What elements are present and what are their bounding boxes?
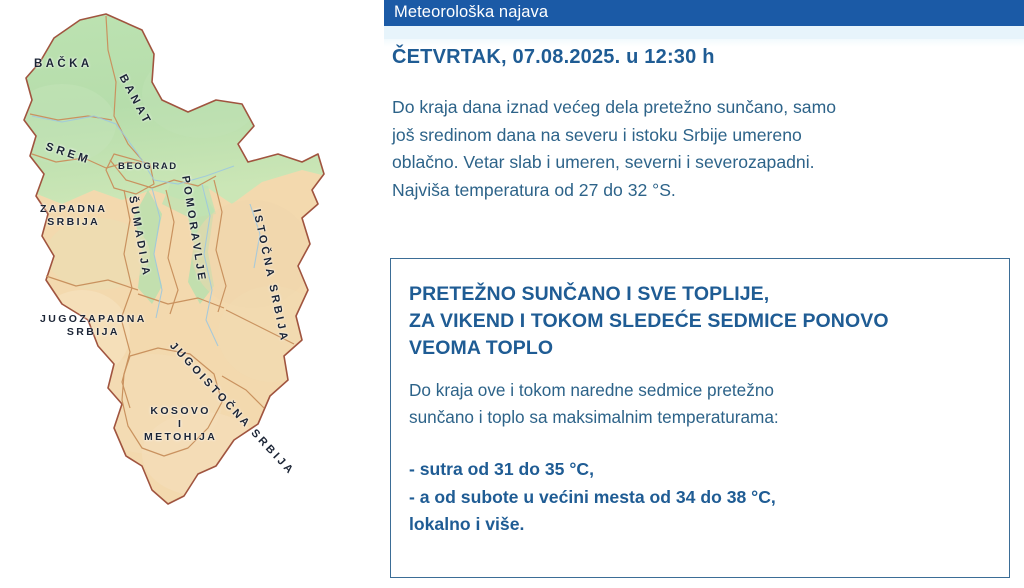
map-landmass bbox=[2, 4, 382, 584]
titlebar-label: Meteorološka najava bbox=[394, 3, 548, 22]
bulletin-panel: Meteorološka najava ČETVRTAK, 07.08.2025… bbox=[384, 0, 1024, 588]
weather-alert-box: PRETEŽNO SUNČANO I SVE TOPLIJE, ZA VIKEN… bbox=[390, 258, 1010, 578]
titlebar-underlay bbox=[384, 26, 1024, 39]
bulletin-page: BAČKA BANAT SREM BEOGRAD ZAPADNA SRBIJA … bbox=[0, 0, 1024, 588]
forecast-intro-paragraph: Do kraja dana iznad većeg dela pretežno … bbox=[392, 94, 996, 204]
forecast-datetime: ČETVRTAK, 07.08.2025. u 12:30 h bbox=[392, 46, 1012, 69]
alert-temperature-list: - sutra od 31 do 35 °C, - a od subote u … bbox=[409, 456, 995, 539]
serbia-map: BAČKA BANAT SREM BEOGRAD ZAPADNA SRBIJA … bbox=[0, 0, 384, 588]
alert-body-text: Do kraja ove i tokom naredne sedmice pre… bbox=[409, 377, 981, 431]
serbia-map-graphic bbox=[2, 4, 382, 584]
meteorological-forecast-titlebar: Meteorološka najava bbox=[384, 0, 1024, 26]
alert-headline: PRETEŽNO SUNČANO I SVE TOPLIJE, ZA VIKEN… bbox=[409, 281, 995, 362]
